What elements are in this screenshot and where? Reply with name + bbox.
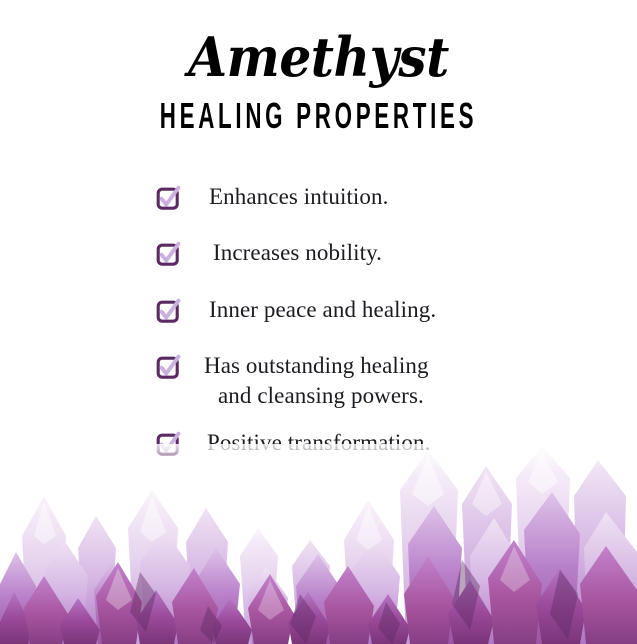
list-item-label: Increases nobility. <box>213 238 382 268</box>
list-item-line1: Increases nobility. <box>213 240 382 265</box>
crystal-front-row <box>0 540 637 644</box>
crystal-mid-row <box>0 492 637 644</box>
list-item-line1: Enhances intuition. <box>209 184 388 209</box>
list-item-label: Inner peace and healing. <box>209 295 436 325</box>
page-title: Amethyst <box>22 0 614 84</box>
checked-checkbox-icon <box>156 185 182 211</box>
list-item: Positive transformation. <box>0 428 637 458</box>
checked-checkbox-icon <box>156 354 182 380</box>
checked-checkbox-icon <box>156 298 182 324</box>
list-item: Increases nobility. <box>0 238 637 268</box>
list-item-line1: Positive transformation. <box>207 430 430 455</box>
crystal-shadows <box>130 560 578 644</box>
list-item-line1: Has outstanding healing <box>204 353 429 378</box>
poster-header: Amethyst HEALING PROPERTIES <box>0 0 637 134</box>
page-subtitle: HEALING PROPERTIES <box>121 84 516 134</box>
list-item: Enhances intuition. <box>0 182 637 212</box>
list-item-line1: Inner peace and healing. <box>209 297 436 322</box>
list-item-label: Positive transformation. <box>207 428 430 458</box>
list-item-line2: and cleansing powers. <box>204 381 429 411</box>
list-item: Inner peace and healing. <box>0 295 637 325</box>
properties-list: Enhances intuition. Increases nobility. <box>0 182 637 484</box>
checked-checkbox-icon <box>156 431 182 457</box>
list-item-label: Enhances intuition. <box>209 182 388 212</box>
checked-checkbox-icon <box>156 241 182 267</box>
list-item-label: Has outstanding healing and cleansing po… <box>204 351 429 412</box>
list-item: Has outstanding healing and cleansing po… <box>0 351 637 412</box>
amethyst-healing-properties-poster: Amethyst HEALING PROPERTIES Enhances int… <box>0 0 637 644</box>
